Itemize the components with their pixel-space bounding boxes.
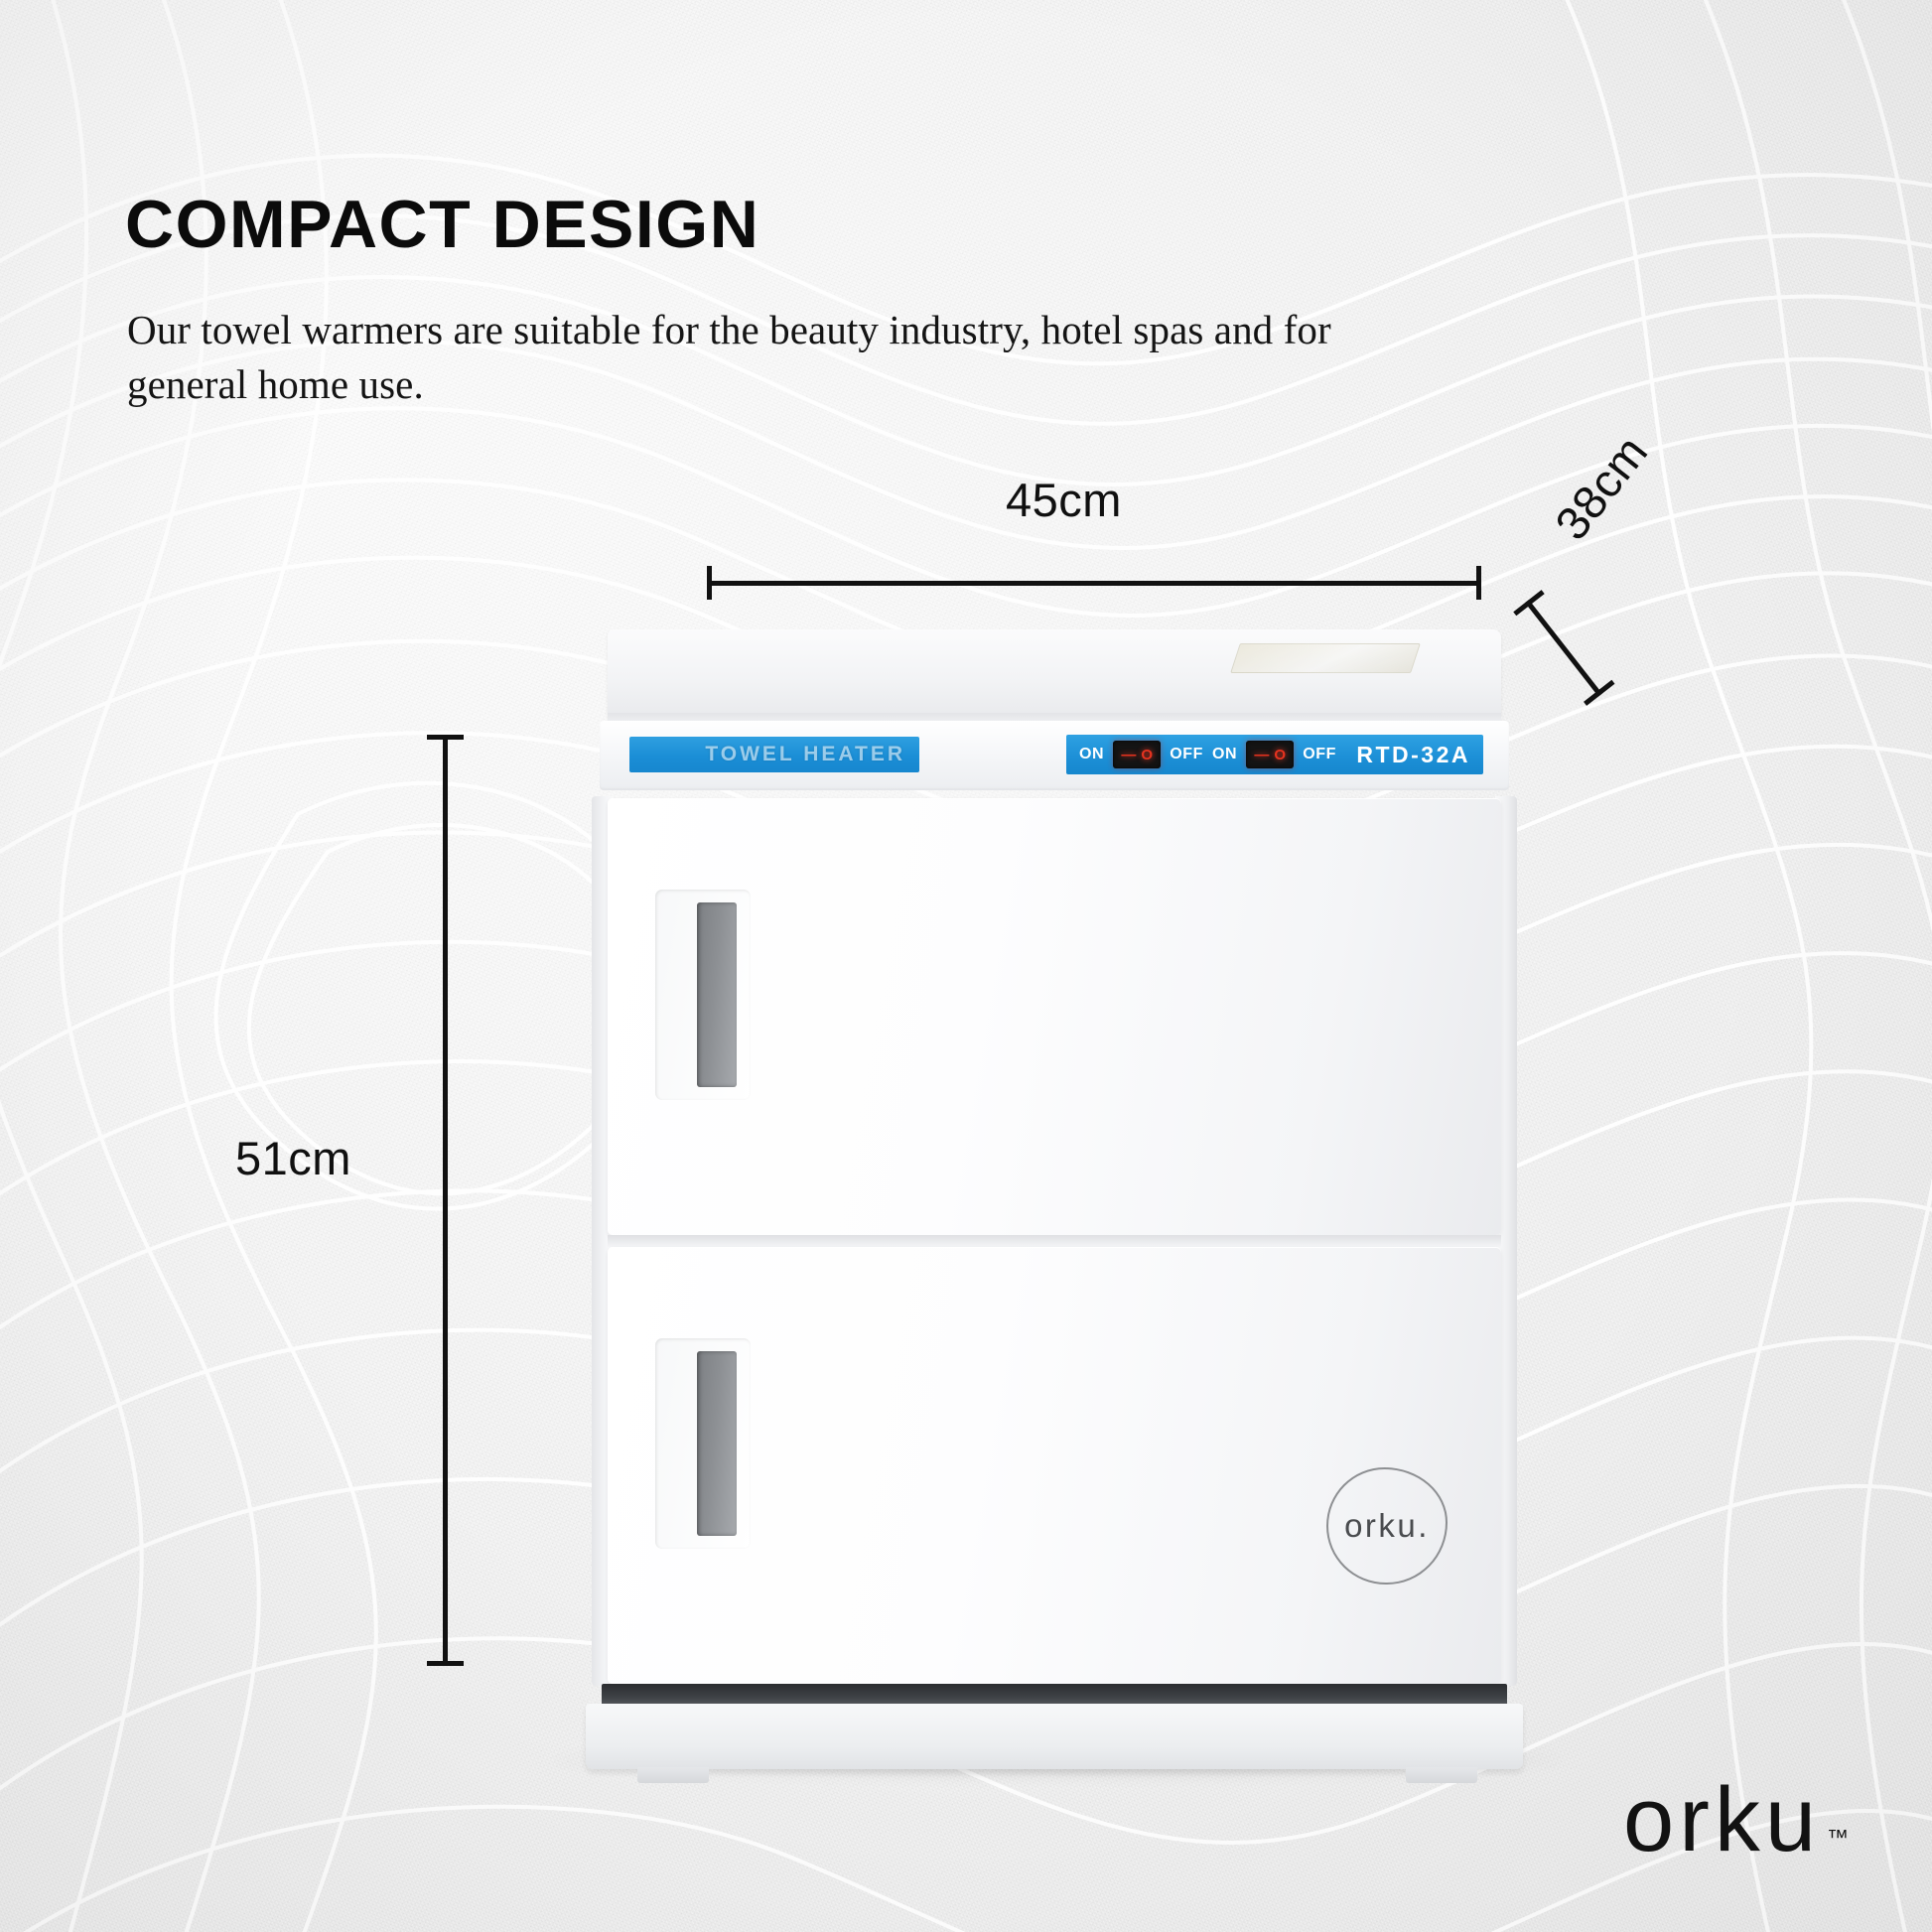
control-panel: ON — O OFF ON — O OFF RTD-32A (1066, 735, 1483, 774)
rocker-2-circle-mark: O (1274, 748, 1286, 762)
switch-2-off-label: OFF (1303, 746, 1336, 763)
height-dimension-cap-bottom (427, 1661, 464, 1666)
base-foot-right (1406, 1767, 1477, 1783)
brand-wordmark: orku (1623, 1778, 1821, 1863)
base-foot-left (637, 1767, 709, 1783)
product-orku-badge-text: orku. (1344, 1507, 1430, 1545)
lower-door-handle[interactable] (655, 1338, 751, 1549)
rocker-1-circle-mark: O (1141, 748, 1153, 762)
brand-logo: orku ™ (1623, 1778, 1849, 1863)
switch-2-on-label: ON (1212, 746, 1237, 763)
switch-1-on-label: ON (1079, 746, 1104, 763)
rocker-2-bar-mark: — (1254, 748, 1269, 762)
base-dark-strip (602, 1684, 1507, 1706)
front-brand-badge-text: TOWEL HEATER (705, 743, 905, 766)
brand-trademark-icon: ™ (1827, 1825, 1849, 1851)
lower-handle-recess (697, 1351, 737, 1536)
height-dimension-line (443, 735, 448, 1666)
width-dimension-label: 45cm (1006, 473, 1122, 527)
door-seam (608, 1235, 1501, 1247)
product-infographic-canvas: COMPACT DESIGN Our towel warmers are sui… (0, 0, 1932, 1932)
page-subtitle: Our towel warmers are suitable for the b… (127, 303, 1408, 411)
power-switch-2[interactable]: — O (1246, 741, 1294, 768)
width-dimension-cap-right (1476, 566, 1481, 600)
page-title: COMPACT DESIGN (125, 191, 759, 258)
rocker-1-bar-mark: — (1121, 748, 1136, 762)
base-plinth (586, 1704, 1523, 1769)
power-switch-1[interactable]: — O (1113, 741, 1161, 768)
width-dimension-cap-left (707, 566, 712, 600)
control-fascia: TOWEL HEATER ON — O OFF ON — O OFF RTD-3… (600, 721, 1509, 790)
width-dimension-line (707, 581, 1481, 586)
front-brand-badge: TOWEL HEATER (629, 737, 919, 772)
upper-handle-recess (697, 902, 737, 1087)
upper-door-handle[interactable] (655, 890, 751, 1100)
switch-1-off-label: OFF (1170, 746, 1203, 763)
height-dimension-cap-top (427, 735, 464, 740)
model-number-label: RTD-32A (1356, 742, 1470, 768)
product-image-towel-warmer: TOWEL HEATER ON — O OFF ON — O OFF RTD-3… (592, 629, 1517, 1759)
top-label-sticker (1230, 643, 1421, 673)
height-dimension-label: 51cm (235, 1131, 351, 1185)
